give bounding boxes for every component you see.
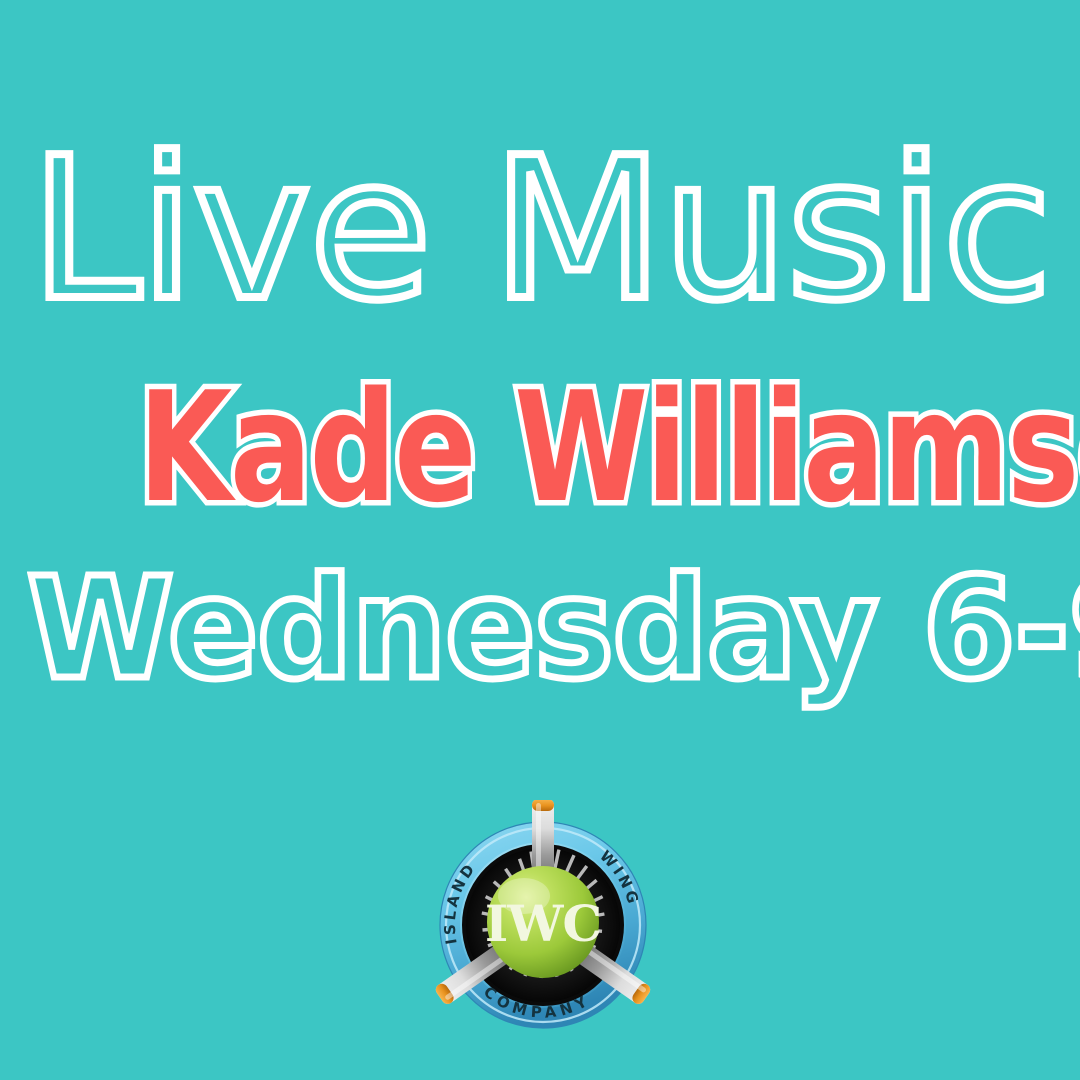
logo-monogram: IWC [485,894,601,953]
artist-name: Kade Williamson Kade Williamson [0,372,1080,522]
flyer-canvas: Live Music Kade Williamson Kade Williams… [0,0,1080,1080]
artist-name-fill: Kade Williamson [138,359,1080,536]
drumstick-top [532,800,554,877]
island-wing-company-logo: IWC ISLAND WING COMPANY [418,800,668,1050]
event-schedule: Wednesday 6-9pm [27,560,1053,700]
page-title: Live Music [0,132,1080,328]
artist-name-text: Kade Williamson Kade Williamson [138,372,1080,524]
